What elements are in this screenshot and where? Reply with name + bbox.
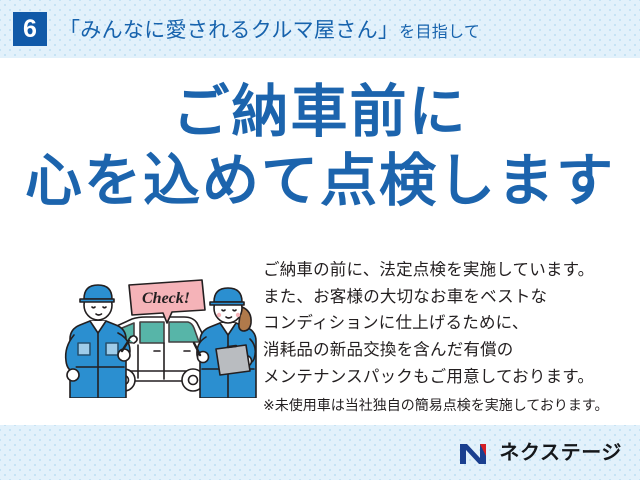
body-copy-line: ご納車の前に、法定点検を実施しています。 — [263, 257, 623, 284]
brand-logo: ネクステージ — [459, 440, 622, 465]
header-title-quoted: 「みんなに愛されるクルマ屋さん」 — [59, 14, 399, 44]
mechanic-left-graphic — [66, 285, 137, 398]
brand-name: ネクステージ — [499, 443, 622, 463]
nextage-n-mark-icon — [459, 440, 492, 465]
body-copy: ご納車の前に、法定点検を実施しています。 また、お客様の大切なお車をベストな コ… — [263, 257, 623, 416]
mechanics-illustration: Check! — [60, 263, 265, 398]
page-header: 6 「みんなに愛されるクルマ屋さん」 を目指して — [0, 0, 640, 58]
header-title-suffix: を目指して — [399, 18, 480, 42]
content-panel: ご納車前に 心を込めて点検します ご納車の前に、法定点検を実施しています。 また… — [0, 58, 640, 425]
section-number-badge: 6 — [13, 12, 47, 46]
page-footer: ネクステージ — [0, 425, 640, 480]
page-title-line-2: 心を込めて点検します — [0, 149, 640, 214]
body-copy-line: コンディションに仕上げるために、 — [263, 310, 623, 337]
check-bubble-label: Check! — [142, 290, 190, 307]
mechanics-illustration-svg: Check! — [60, 263, 265, 398]
page-title: ご納車前に 心を込めて点検します — [0, 80, 640, 214]
advertisement-page: 6 「みんなに愛されるクルマ屋さん」 を目指して ご納車前に 心を込めて点検しま… — [0, 0, 640, 480]
body-copy-note: ※未使用車は当社独自の簡易点検を実施しております。 — [263, 394, 623, 417]
header-title: 「みんなに愛されるクルマ屋さん」 を目指して — [59, 14, 480, 44]
body-copy-line: メンテナンスパックもご用意しております。 — [263, 364, 623, 391]
body-copy-line: また、お客様の大切なお車をベストな — [263, 284, 623, 311]
page-title-line-1: ご納車前に — [0, 80, 640, 145]
body-copy-line: 消耗品の新品交換を含んだ有償の — [263, 337, 623, 364]
